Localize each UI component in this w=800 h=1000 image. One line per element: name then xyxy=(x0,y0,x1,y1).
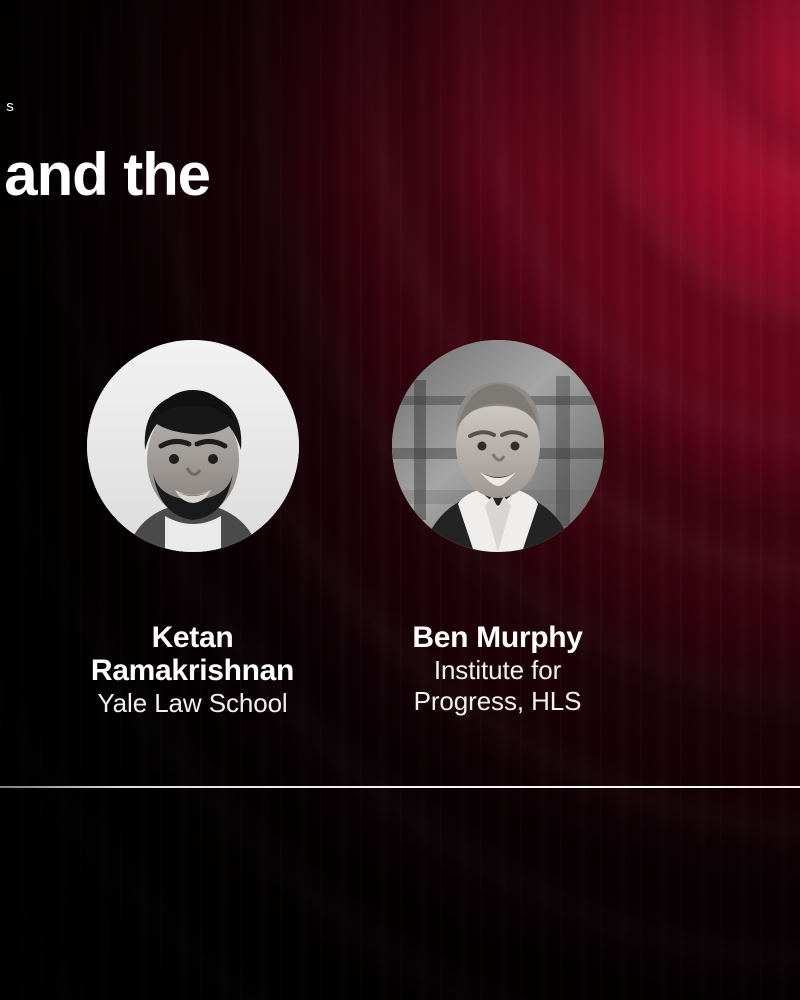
speaker-card: Ketan Ramakrishnan Yale Law School xyxy=(40,340,345,719)
speaker-card: n Hwang ndation for can Innovation xyxy=(0,340,40,717)
speaker-name: Ben Murphy xyxy=(412,621,582,654)
speaker-list: n Hwang ndation for can Innovation xyxy=(0,340,800,719)
speaker-affiliation: Institute for Progress, HLS xyxy=(414,655,582,717)
affiliation-line: Progress, HLS xyxy=(414,686,582,716)
avatar-photo-ramakrishnan xyxy=(87,340,299,552)
avatar xyxy=(392,340,604,552)
avatar xyxy=(87,340,299,552)
speaker-affiliation: Yale Law School xyxy=(97,688,287,719)
speaker-name: Ketan Ramakrishnan xyxy=(53,621,333,687)
slide-content: s isruption and the xyxy=(0,0,800,1000)
affiliation-line: Institute for xyxy=(434,655,561,685)
avatar-photo-murphy xyxy=(392,340,604,552)
presentation-slide: s isruption and the xyxy=(0,0,800,1000)
footer-divider xyxy=(0,786,800,788)
speaker-card: Ben Murphy Institute for Progress, HLS xyxy=(345,340,650,717)
affiliation-line: Yale Law School xyxy=(97,688,287,718)
slide-kicker: s xyxy=(0,98,14,115)
slide-title: isruption and the xyxy=(0,142,502,208)
